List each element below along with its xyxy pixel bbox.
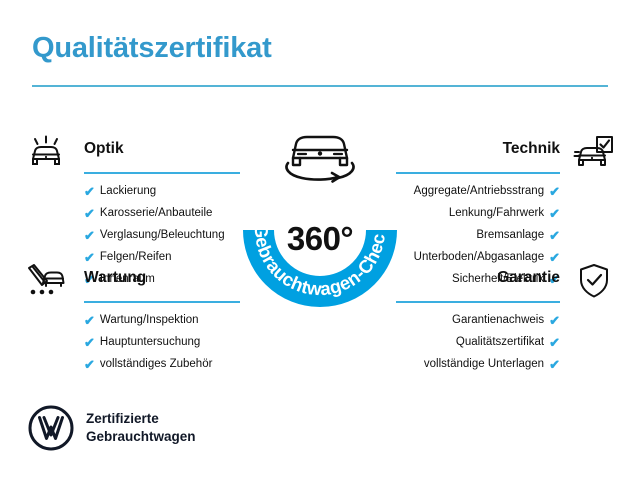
list-item: ✔Verglasung/Beleuchtung [22, 229, 244, 242]
check-icon: ✔ [549, 207, 560, 220]
section-title: Optik [84, 140, 124, 158]
section-wartung: Wartung ✔Wartung/Inspektion ✔Hauptunters… [22, 261, 244, 380]
check-icon: ✔ [549, 336, 560, 349]
check-icon: ✔ [84, 336, 95, 349]
list-item-label: Hauptuntersuchung [100, 337, 200, 349]
list-item-label: vollständige Unterlagen [424, 359, 544, 371]
footer-branding: Zertifizierte Gebrauchtwagen [28, 405, 196, 451]
shield-check-icon [570, 261, 618, 301]
list-item: Aggregate/Antriebsstrang✔ [396, 185, 618, 198]
section-header: Wartung [22, 261, 244, 305]
list-item-label: vollständiges Zubehör [100, 359, 213, 371]
check-icon: ✔ [84, 358, 95, 371]
check-icon: ✔ [549, 229, 560, 242]
section-divider [84, 301, 240, 303]
list-item: vollständige Unterlagen✔ [396, 358, 618, 371]
section-title: Wartung [84, 269, 146, 287]
checklist-garantie: Garantienachweis✔ Qualitätszertifikat✔ v… [396, 314, 618, 371]
check-icon: ✔ [84, 229, 95, 242]
checklist-wartung: ✔Wartung/Inspektion ✔Hauptuntersuchung ✔… [22, 314, 244, 371]
section-garantie: Garantie Garantienachweis✔ Qualitätszert… [396, 261, 618, 380]
section-header: Garantie [396, 261, 618, 305]
list-item-label: Qualitätszertifikat [456, 337, 544, 349]
volkswagen-logo [28, 405, 74, 451]
check-icon: ✔ [549, 185, 560, 198]
header-divider [32, 85, 608, 87]
page-title: Qualitätszertifikat [32, 32, 272, 65]
list-item-label: Karosserie/Anbauteile [100, 208, 213, 220]
check-icon: ✔ [549, 314, 560, 327]
list-item-label: Verglasung/Beleuchtung [100, 230, 225, 242]
list-item: ✔Hauptuntersuchung [22, 336, 244, 349]
check-icon: ✔ [84, 314, 95, 327]
list-item: Bremsanlage✔ [396, 229, 618, 242]
footer-text: Zertifizierte Gebrauchtwagen [86, 410, 196, 446]
list-item-label: Bremsanlage [476, 230, 544, 242]
section-divider [396, 301, 560, 303]
list-item-label: Aggregate/Antriebsstrang [414, 186, 544, 198]
service-pen-car-icon [22, 261, 70, 301]
section-title: Technik [503, 140, 560, 158]
section-header: Technik [396, 132, 618, 176]
badge-curved-text: Gebrauchtwagen-Check [232, 122, 389, 299]
section-title: Garantie [497, 269, 560, 287]
list-item-label: Lenkung/Fahrwerk [449, 208, 544, 220]
list-item: Qualitätszertifikat✔ [396, 336, 618, 349]
check-icon: ✔ [84, 207, 95, 220]
check-icon: ✔ [549, 358, 560, 371]
list-item-label: Lackierung [100, 186, 156, 198]
list-item: Garantienachweis✔ [396, 314, 618, 327]
list-item: ✔Karosserie/Anbauteile [22, 207, 244, 220]
footer-line-1: Zertifizierte [86, 410, 196, 428]
list-item-label: Wartung/Inspektion [100, 315, 199, 327]
section-divider [84, 172, 240, 174]
list-item: ✔vollständiges Zubehör [22, 358, 244, 371]
list-item-label: Garantienachweis [452, 315, 544, 327]
car-rotate-360-icon [287, 137, 354, 182]
qualitaetszertifikat-page: Qualitätszertifikat O [0, 0, 640, 480]
badge-360-gebrauchtwagen-check: Gebrauchtwagen-Check [232, 122, 408, 312]
badge-number: 360° [232, 220, 408, 258]
section-divider [396, 172, 560, 174]
car-shine-icon [22, 132, 70, 172]
list-item: Lenkung/Fahrwerk✔ [396, 207, 618, 220]
check-icon: ✔ [84, 185, 95, 198]
footer-line-2: Gebrauchtwagen [86, 428, 196, 446]
list-item: ✔Lackierung [22, 185, 244, 198]
section-header: Optik [22, 132, 244, 176]
list-item: ✔Wartung/Inspektion [22, 314, 244, 327]
car-checkbox-icon [570, 132, 618, 172]
